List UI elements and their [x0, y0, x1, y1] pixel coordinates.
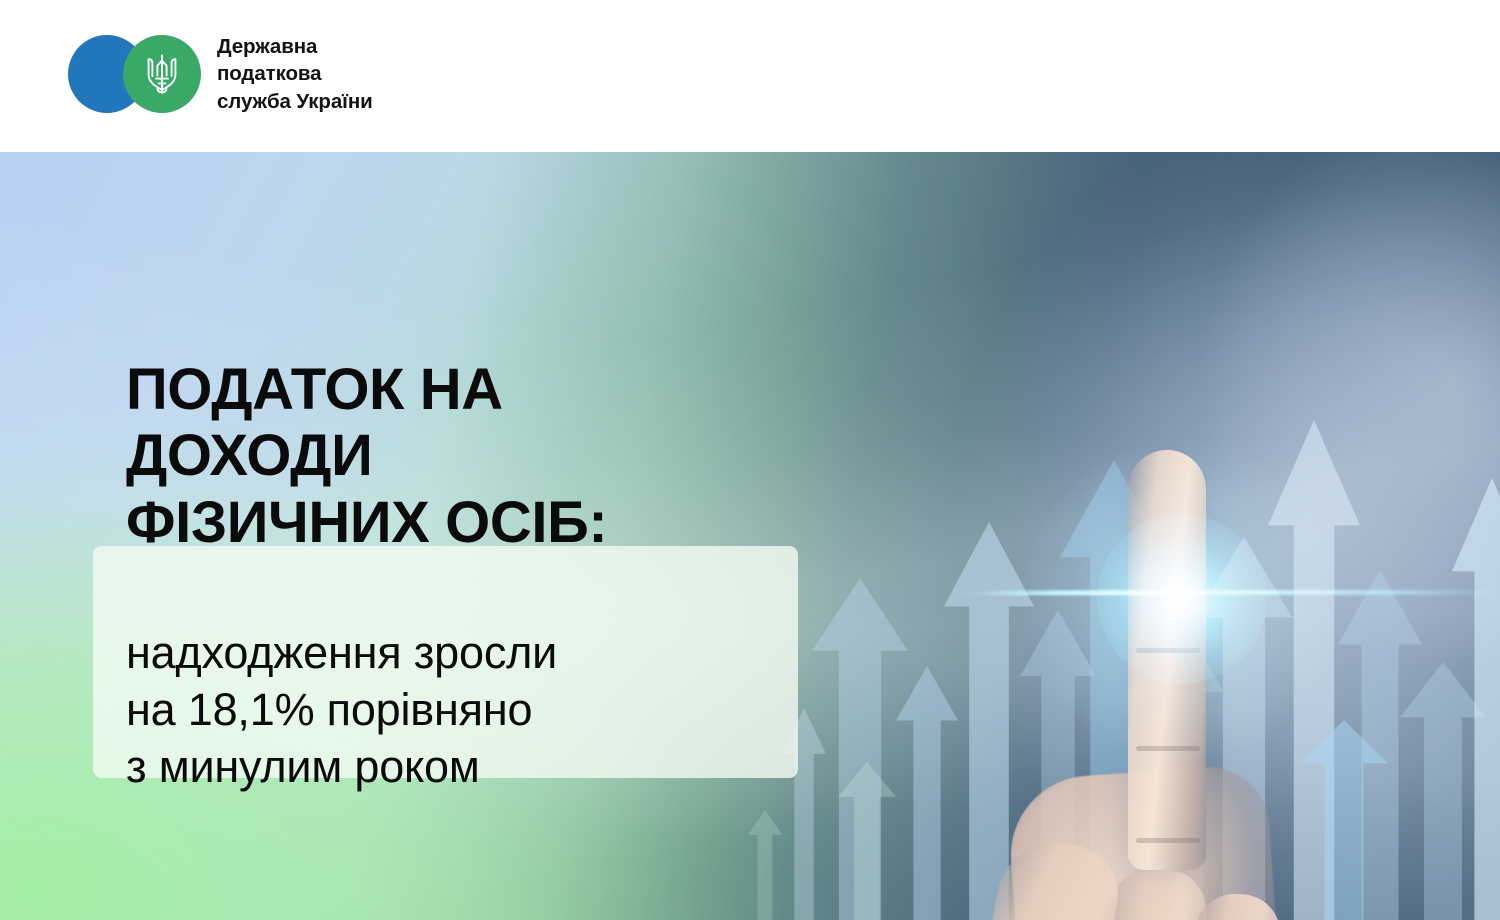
- poster-canvas: ПОДАТОК НА ДОХОДИ ФІЗИЧНИХ ОСІБ: надходж…: [0, 0, 1500, 920]
- page-title: ПОДАТОК НА ДОХОДИ ФІЗИЧНИХ ОСІБ:: [126, 357, 607, 556]
- site-logo[interactable]: Державна податкова служба України: [68, 33, 373, 115]
- subtitle-panel: надходження зросли на 18,1% порівняно з …: [93, 546, 798, 778]
- organization-name: Державна податкова служба України: [217, 33, 373, 115]
- logo-marks: [68, 35, 201, 113]
- subtitle-text: надходження зросли на 18,1% порівняно з …: [126, 624, 772, 795]
- fingertip-glow-core: [1097, 514, 1267, 684]
- ukraine-trident-icon: [123, 35, 201, 113]
- header-bar: Державна податкова служба України: [0, 0, 1500, 152]
- finger-crease-lower: [1136, 838, 1200, 843]
